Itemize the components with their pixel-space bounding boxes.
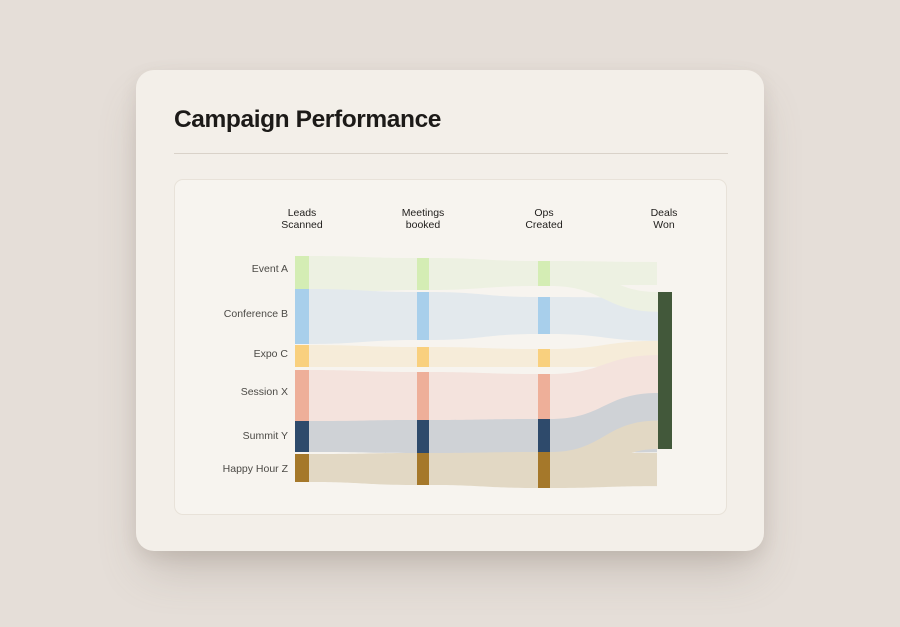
- row-label-happy-hour-z: Happy Hour Z: [175, 463, 288, 475]
- sankey-node[interactable]: [417, 292, 429, 340]
- sankey-ribbon: [429, 292, 538, 340]
- row-label-expo-c: Expo C: [175, 348, 288, 360]
- stage-header-3: Ops Created: [489, 207, 599, 232]
- sankey-node[interactable]: [417, 347, 429, 367]
- stage-header-1: Leads Scanned: [247, 207, 357, 232]
- sankey-ribbon: [429, 419, 538, 454]
- sankey-node[interactable]: [295, 256, 309, 294]
- sankey-node[interactable]: [295, 421, 309, 452]
- row-label-session-x: Session X: [175, 386, 288, 398]
- sankey-ribbon: [309, 256, 417, 294]
- sankey-ribbon: [429, 347, 538, 367]
- sankey-ribbon: [429, 258, 538, 290]
- sankey-ribbon: [309, 420, 417, 453]
- sankey-ribbon: [309, 289, 417, 344]
- sankey-ribbon: [309, 370, 417, 425]
- sankey-ribbon: [429, 372, 538, 423]
- sankey-node[interactable]: [538, 349, 550, 367]
- screenshot-root: Campaign Performance Leads ScannedMeetin…: [0, 0, 900, 627]
- sankey-node[interactable]: [417, 258, 429, 290]
- sankey-ribbon: [309, 345, 417, 367]
- sankey-node[interactable]: [417, 420, 429, 453]
- page-title: Campaign Performance: [174, 106, 441, 134]
- campaign-performance-card: Campaign Performance Leads ScannedMeetin…: [136, 70, 764, 551]
- title-divider: [174, 153, 728, 154]
- sankey-node[interactable]: [295, 289, 309, 344]
- row-label-summit-y: Summit Y: [175, 430, 288, 442]
- sankey-node[interactable]: [538, 297, 550, 334]
- sankey-node[interactable]: [538, 261, 550, 286]
- sankey-ribbon: [309, 453, 417, 485]
- stage-header-4: Deals Won: [609, 207, 719, 232]
- sankey-chart-panel: Leads ScannedMeetings bookedOps CreatedD…: [174, 179, 727, 515]
- sankey-node[interactable]: [417, 372, 429, 423]
- row-label-conference-b: Conference B: [175, 308, 288, 320]
- sankey-node[interactable]: [295, 345, 309, 367]
- sankey-node[interactable]: [295, 454, 309, 482]
- row-label-event-a: Event A: [175, 263, 288, 275]
- sankey-ribbon: [429, 452, 538, 488]
- sankey-node[interactable]: [417, 453, 429, 485]
- sankey-node[interactable]: [538, 452, 550, 488]
- sankey-node[interactable]: [295, 370, 309, 425]
- sankey-node[interactable]: [538, 374, 550, 422]
- sankey-node[interactable]: [538, 419, 550, 454]
- sankey-ribbon-group: [309, 256, 658, 488]
- sankey-node-deals-won[interactable]: [658, 292, 672, 449]
- stage-header-2: Meetings booked: [368, 207, 478, 232]
